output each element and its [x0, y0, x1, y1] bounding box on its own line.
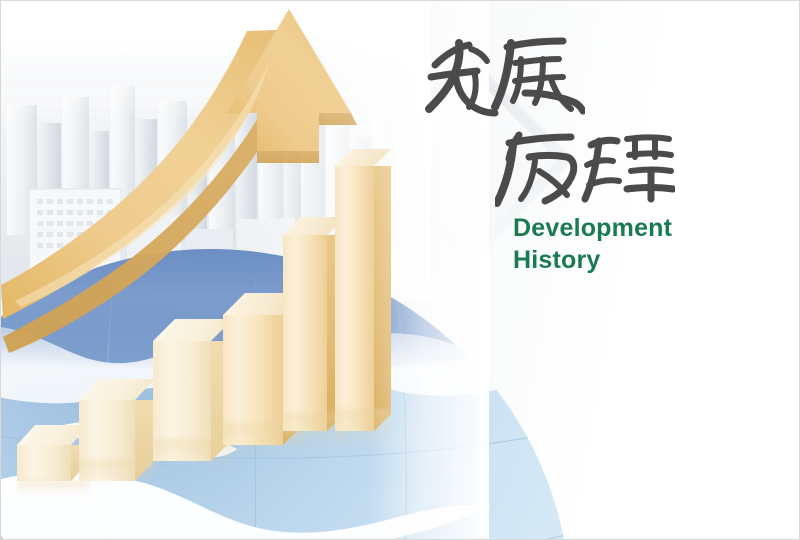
development-history-banner: Development History: [0, 0, 800, 540]
growth-arrow: [1, 1, 431, 401]
chart-bar-1-face: [17, 445, 71, 481]
chart-bar-2-reflection: [79, 460, 155, 482]
chinese-calligraphy-line-1: [425, 35, 585, 121]
chinese-calligraphy-line-2: [495, 127, 675, 213]
english-title: Development History: [513, 212, 672, 276]
chart-bar-3-reflection: [153, 439, 233, 465]
chart-bar-1-reflection: [17, 481, 89, 497]
english-title-line-2: History: [513, 244, 672, 276]
english-title-line-1: Development: [513, 212, 672, 244]
